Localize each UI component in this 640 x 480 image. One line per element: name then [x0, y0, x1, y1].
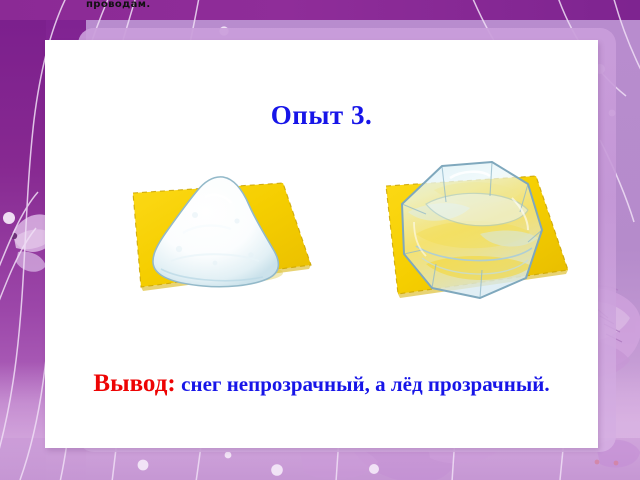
top-note-text: проводам.	[86, 0, 151, 10]
conclusion-line: Вывод: снег непрозрачный, а лёд прозрачн…	[45, 370, 598, 398]
figure-ice-on-sheet	[330, 138, 592, 323]
page-title: Опыт 3.	[45, 100, 598, 131]
figure-snow-on-sheet	[75, 145, 335, 320]
ice-block	[402, 162, 542, 298]
content-card: Опыт 3.	[45, 40, 598, 448]
presentation-slide: проводам. Опыт 3.	[0, 0, 640, 480]
conclusion-body: снег непрозрачный, а лёд прозрачный.	[181, 372, 549, 396]
conclusion-lead: Вывод:	[93, 370, 175, 397]
